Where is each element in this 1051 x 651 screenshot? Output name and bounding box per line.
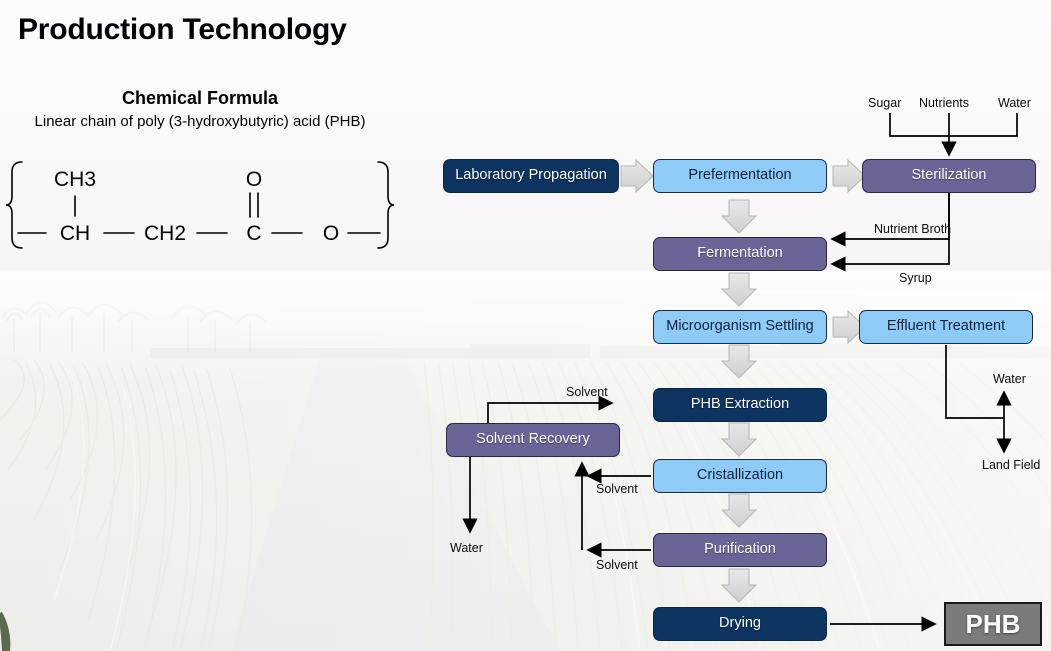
formula-group-ch: CH xyxy=(60,222,90,245)
line-sugar-water-manifold xyxy=(890,113,1017,136)
node-product-phb[interactable]: PHB xyxy=(944,602,1042,646)
inlet-label-sugar: Sugar xyxy=(868,96,901,110)
formula-group-c: C xyxy=(246,222,261,245)
formula-group-carbonyl-o: O xyxy=(246,168,262,191)
node-cristallization[interactable]: Cristallization xyxy=(653,459,827,493)
edge-label-effluent-water: Water xyxy=(993,372,1026,386)
edge-label-recovery-water: Water xyxy=(450,541,483,555)
edge-label-solvent-out: Solvent xyxy=(566,385,608,399)
edge-label-nutrient-broth: Nutrient Broth xyxy=(874,222,951,236)
chevron-right-lab-to-prefermentation xyxy=(621,160,653,192)
slide-canvas: Production Technology Chemical Formula L… xyxy=(0,0,1051,651)
node-fermentation[interactable]: Fermentation xyxy=(653,237,827,271)
chemical-formula-structure: CH3 CH CH2 C O O xyxy=(0,140,400,270)
chevron-down-extraction-to-cristallization xyxy=(722,423,756,456)
node-laboratory-propagation[interactable]: Laboratory Propagation xyxy=(443,159,619,193)
inlet-label-water: Water xyxy=(998,96,1031,110)
edge-label-solvent-from-purification: Solvent xyxy=(596,558,638,572)
chevron-right-prefermentation-to-sterilization xyxy=(833,160,865,192)
edge-label-syrup: Syrup xyxy=(899,271,932,285)
chevron-down-fermentation-to-settling xyxy=(722,273,756,306)
page-title: Production Technology xyxy=(18,13,347,47)
node-effluent-treatment[interactable]: Effluent Treatment xyxy=(859,310,1033,344)
node-phb-extraction[interactable]: PHB Extraction xyxy=(653,388,827,422)
chemical-formula-subheading: Linear chain of poly (3-hydroxybutyric) … xyxy=(0,113,400,130)
node-prefermentation[interactable]: Prefermentation xyxy=(653,159,827,193)
chevron-down-settling-to-extraction xyxy=(722,345,756,378)
chevron-down-purification-to-drying xyxy=(722,569,756,602)
formula-group-ester-o: O xyxy=(323,222,339,245)
chevron-down-cristallization-to-purification xyxy=(722,494,756,527)
inlet-label-nutrients: Nutrients xyxy=(919,96,969,110)
node-purification[interactable]: Purification xyxy=(653,533,827,567)
chemical-formula-heading: Chemical Formula xyxy=(0,88,400,109)
formula-group-ch3: CH3 xyxy=(54,168,96,191)
node-sterilization[interactable]: Sterilization xyxy=(862,159,1036,193)
node-microorganism-settling[interactable]: Microorganism Settling xyxy=(653,310,827,344)
formula-group-ch2: CH2 xyxy=(144,222,186,245)
arrow-solvent-recovery-out xyxy=(488,403,612,423)
edge-label-land-field: Land Field xyxy=(982,458,1040,472)
node-drying[interactable]: Drying xyxy=(653,607,827,641)
chevron-down-prefermentation-to-fermentation xyxy=(722,200,756,233)
node-solvent-recovery[interactable]: Solvent Recovery xyxy=(446,423,620,457)
edge-label-solvent-from-cristallization: Solvent xyxy=(596,482,638,496)
